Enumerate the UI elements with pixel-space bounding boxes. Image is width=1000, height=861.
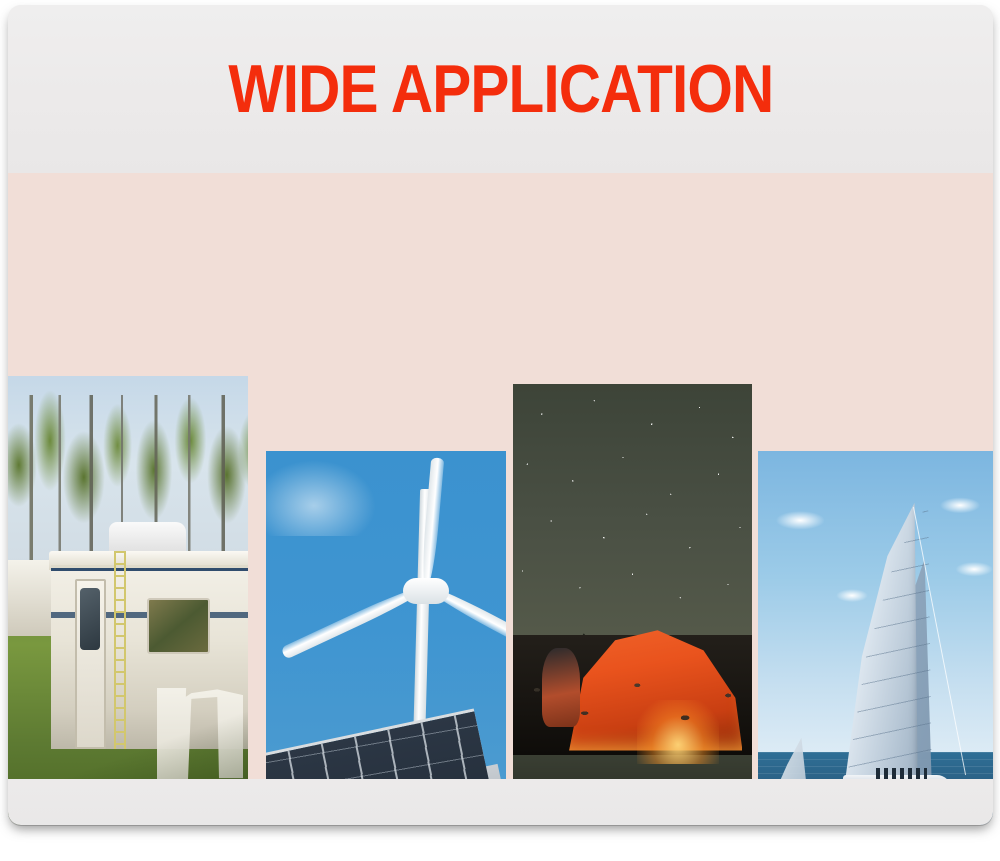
turbine-nacelle — [403, 578, 449, 604]
yacht-sailing-photo — [758, 451, 993, 825]
application-tile-rv-travel[interactable]: RV travel — [8, 376, 248, 825]
banner-footer-band — [8, 779, 993, 825]
foreground-rocks — [513, 662, 752, 755]
application-tile-camping[interactable]: Camping — [513, 384, 752, 825]
application-tile-new-energy[interactable]: New energy — [266, 451, 506, 825]
cloud-wisp — [266, 460, 376, 535]
banner-header-band: WIDE APPLICATION — [8, 5, 993, 173]
banner-content-band: RV travel New energy — [8, 173, 993, 779]
rv-side-window — [147, 598, 209, 655]
page-title: WIDE APPLICATION — [228, 55, 773, 123]
wide-application-banner-card: WIDE APPLICATION R — [8, 5, 993, 825]
background-trailer — [8, 560, 56, 636]
rv-door-window — [80, 588, 100, 649]
camping-photo — [513, 384, 752, 825]
application-tile-yacht-sailing[interactable]: Yacht sailing — [758, 451, 993, 825]
new-energy-photo — [266, 451, 506, 825]
rv-travel-photo — [8, 376, 248, 825]
